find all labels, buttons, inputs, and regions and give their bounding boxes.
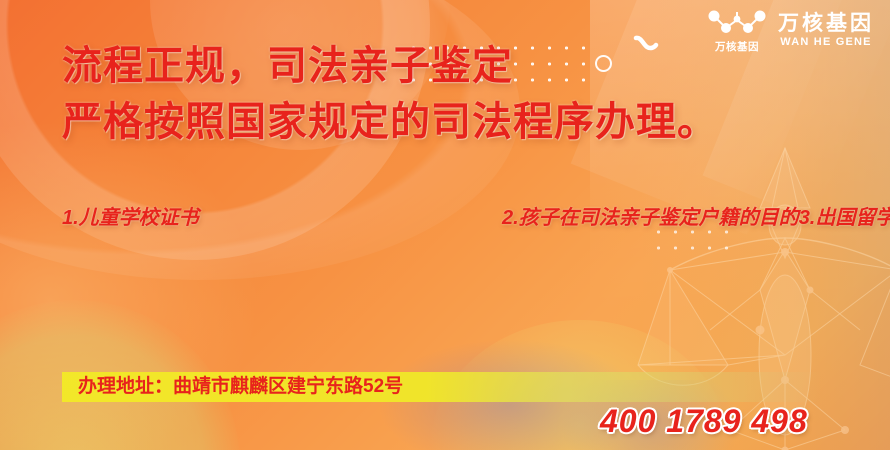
list-item: 3.出国留学移民 — [799, 196, 890, 240]
list-item: 2.孩子在司法亲子鉴定户籍的目的 — [502, 196, 799, 240]
headline-line-2: 严格按照国家规定的司法程序办理。 — [62, 94, 852, 150]
address-text: 办理地址：曲靖市麒麟区建宁东路52号 — [78, 372, 403, 402]
headline-line-1: 流程正规，司法亲子鉴定 — [62, 38, 852, 94]
contact-phone[interactable]: 400 1789 498 — [600, 403, 808, 440]
headline: 流程正规，司法亲子鉴定 严格按照国家规定的司法程序办理。 — [62, 38, 852, 150]
lady-justice-scales-icon — [610, 130, 890, 450]
service-list: 1.儿童学校证书 2.孩子在司法亲子鉴定户籍的目的 3.出国留学移民 4.鉴定司… — [62, 196, 852, 240]
logo-word-cn: 万核基因 — [778, 13, 874, 35]
molecule-network-icon — [706, 8, 768, 38]
promo-banner: 万核基因 万核基因 WAN HE GENE 流程正规，司法亲子鉴定 严格按照国家… — [0, 0, 890, 450]
list-item: 1.儿童学校证书 — [62, 196, 502, 240]
